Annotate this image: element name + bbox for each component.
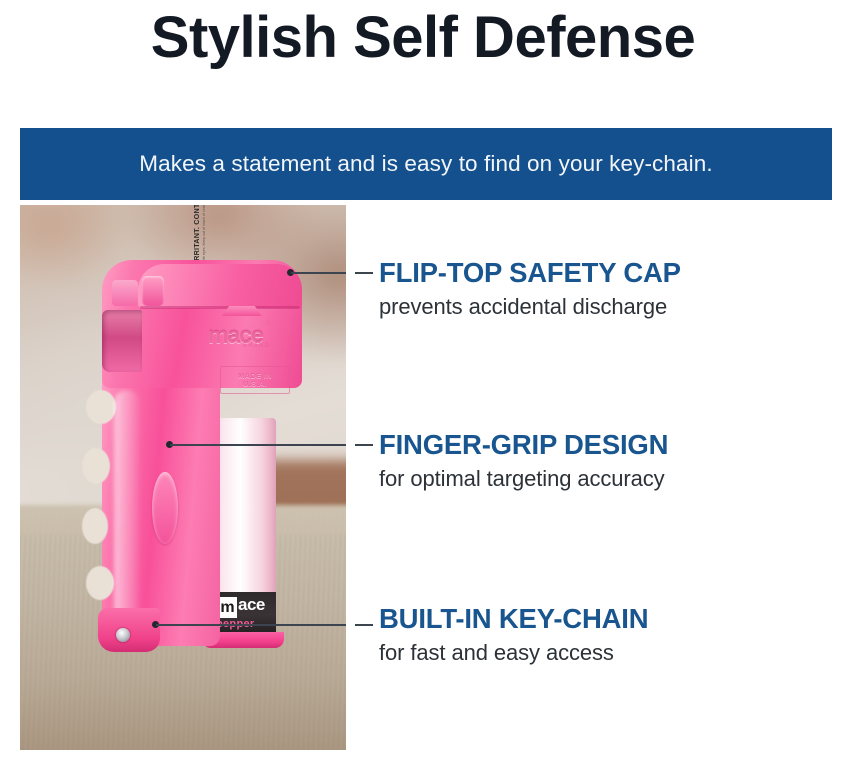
subtitle-banner: Makes a statement and is easy to find on… (20, 128, 832, 200)
built-in-keychain-loop (98, 608, 160, 652)
grip-highlight (114, 390, 140, 640)
callout-stub-built-in-key-chain (355, 624, 373, 626)
actuator-recess (102, 310, 142, 372)
mace-logo-text: ace (238, 596, 265, 613)
feature-description: prevents accidental discharge (379, 294, 681, 319)
pepper-spray-unit: CAUTION: STRONG IRRITANT. CONTENTS UNDER… (80, 240, 310, 670)
feature-finger-grip-design: FINGER-GRIP DESIGN for optimal targeting… (379, 430, 668, 492)
callout-stub-flip-top-safety-cap (355, 272, 373, 274)
feature-flip-top-safety-cap: FLIP-TOP SAFETY CAP prevents accidental … (379, 258, 681, 320)
usa-line: U.S.A. (243, 380, 267, 388)
feature-heading: FINGER-GRIP DESIGN (379, 430, 668, 460)
brand-subtext: BRAND (243, 343, 270, 349)
callout-line-finger-grip-design (170, 444, 346, 446)
callout-stub-finger-grip-design (355, 444, 373, 446)
grip-notch (86, 390, 116, 424)
feature-heading: BUILT-IN KEY-CHAIN (379, 604, 648, 634)
made-in-usa-emboss: MADE IN U.S.A. (220, 366, 290, 394)
feature-description: for optimal targeting accuracy (379, 466, 668, 491)
grip-notch (86, 566, 114, 600)
grip-notch (82, 508, 108, 544)
callout-line-flip-top-safety-cap (291, 272, 346, 274)
grip-notch (82, 448, 110, 484)
mace-logo-mark: m (218, 597, 237, 618)
registered-mark: ® (266, 320, 271, 327)
cap-hinge-slot (112, 280, 138, 306)
feature-description: for fast and easy access (379, 640, 648, 665)
feature-built-in-key-chain: BUILT-IN KEY-CHAIN for fast and easy acc… (379, 604, 648, 666)
product-photo: CAUTION: STRONG IRRITANT. CONTENTS UNDER… (20, 205, 346, 750)
page-title: Stylish Self Defense (0, 8, 846, 69)
feature-heading: FLIP-TOP SAFETY CAP (379, 258, 681, 288)
callout-line-built-in-key-chain (156, 624, 346, 626)
cap-hinge-tab (142, 276, 164, 306)
cap-seam (140, 306, 300, 309)
thumb-pad (152, 472, 178, 544)
banner-text: Makes a statement and is easy to find on… (139, 151, 712, 177)
keychain-attachment-hole (116, 628, 130, 642)
